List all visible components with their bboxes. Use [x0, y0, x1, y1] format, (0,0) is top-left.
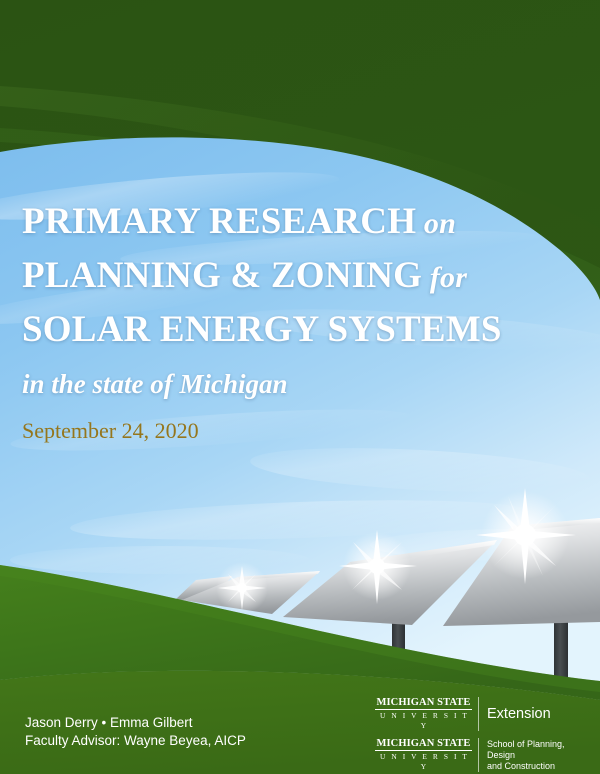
document-cover: PRIMARY RESEARCH on PLANNING & ZONING fo…	[0, 0, 600, 774]
msu-school-unit-line2: and Construction	[487, 761, 590, 772]
title-line-3: SOLAR ENERGY SYSTEMS	[22, 304, 582, 356]
title-line-1: PRIMARY RESEARCH on	[22, 196, 582, 250]
msu-wordmark: MICHIGAN STATE U N I V E R S I T Y	[375, 738, 472, 772]
msu-wordmark-bottom: U N I V E R S I T Y	[375, 710, 472, 731]
title-line-3-main: SOLAR ENERGY SYSTEMS	[22, 309, 502, 350]
title-line-1-main: PRIMARY RESEARCH	[22, 201, 416, 242]
title-line-2-main: PLANNING & ZONING	[22, 255, 422, 296]
msu-wordmark-top: MICHIGAN STATE	[375, 697, 472, 710]
logo-block: MICHIGAN STATE U N I V E R S I T Y Exten…	[375, 697, 590, 774]
title-line-2: PLANNING & ZONING for	[22, 250, 582, 304]
credits-block: Jason Derry • Emma Gilbert Faculty Advis…	[25, 714, 246, 749]
msu-wordmark: MICHIGAN STATE U N I V E R S I T Y	[375, 697, 472, 731]
msu-extension-unit-label: Extension	[487, 706, 551, 722]
logo-divider	[478, 738, 479, 772]
msu-wordmark-bottom: U N I V E R S I T Y	[375, 751, 472, 772]
msu-school-unit-line1: School of Planning, Design	[487, 739, 590, 761]
msu-extension-logo: MICHIGAN STATE U N I V E R S I T Y Exten…	[375, 697, 590, 731]
title-block: PRIMARY RESEARCH on PLANNING & ZONING fo…	[22, 196, 582, 446]
logo-divider	[478, 697, 479, 731]
panel-glint	[216, 562, 268, 614]
credits-authors: Jason Derry • Emma Gilbert	[25, 714, 246, 732]
msu-wordmark-top: MICHIGAN STATE	[375, 738, 472, 751]
title-line-1-connector: on	[416, 207, 456, 240]
msu-school-logo: MICHIGAN STATE U N I V E R S I T Y Schoo…	[375, 738, 590, 772]
msu-school-unit-label: School of Planning, Design and Construct…	[487, 739, 590, 772]
credits-advisor: Faculty Advisor: Wayne Beyea, AICP	[25, 732, 246, 750]
cover-subtitle: in the state of Michigan	[22, 364, 582, 404]
cover-date: September 24, 2020	[22, 416, 582, 446]
title-line-2-connector: for	[422, 261, 467, 294]
